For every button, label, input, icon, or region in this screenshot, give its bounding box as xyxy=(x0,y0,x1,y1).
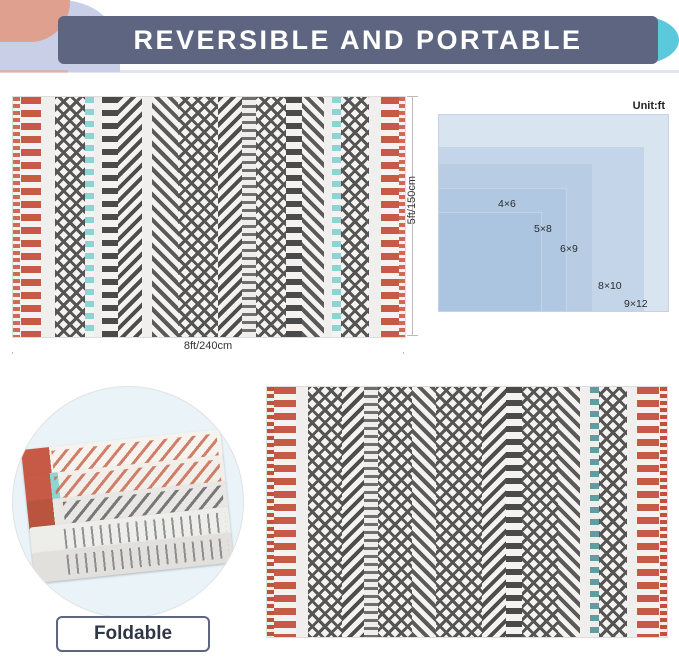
rug-back-band-diamond-3 xyxy=(522,387,558,637)
rug-height-label: 5ft/150cm xyxy=(406,176,424,224)
rug-back-band-diamond-2 xyxy=(378,387,412,637)
rug-band-cream-3 xyxy=(142,97,152,337)
header-underline xyxy=(0,70,679,73)
rug-band-zigzag-1 xyxy=(118,97,142,337)
rug-back-fringe-left xyxy=(267,387,274,637)
rug-band-zigzag-2 xyxy=(152,97,178,337)
rug-width-dimension: 8ft/240cm xyxy=(12,340,404,362)
size-label-4x6: 4×6 xyxy=(498,198,516,210)
rug-back-band-cream-1 xyxy=(296,387,308,637)
rug-front-photo xyxy=(12,96,406,338)
rug-band-coral-left xyxy=(21,97,41,337)
folded-rug-stack xyxy=(21,429,237,574)
rug-band-cream-2 xyxy=(94,97,102,337)
rug-width-label-wrap: 8ft/240cm xyxy=(12,340,404,352)
rug-band-mint-1 xyxy=(85,97,94,337)
rug-back-band-zigzag-3 xyxy=(482,387,506,637)
rug-fringe-left xyxy=(13,97,20,337)
size-label-9x12: 9×12 xyxy=(624,298,648,310)
rug-back-band-cream-2 xyxy=(580,387,590,637)
rug-band-diamond-1 xyxy=(55,97,85,337)
size-comparison-chart: Unit:ft 4×6 5×8 6×9 8×10 9×12 xyxy=(438,116,667,312)
rug-band-dots-2 xyxy=(286,97,302,337)
rug-back-band-diamond-center xyxy=(436,387,482,637)
rug-band-grey-1 xyxy=(242,97,256,337)
rug-back-band-cream-3 xyxy=(627,387,637,637)
rug-back-photo xyxy=(266,386,668,638)
dimension-cap-bottom xyxy=(407,335,418,336)
rug-band-dots-1 xyxy=(102,97,118,337)
rug-back-band-teal xyxy=(590,387,599,637)
dimension-cap-top xyxy=(407,96,418,97)
rug-back-band-zigzag-1 xyxy=(342,387,364,637)
foldable-rug-photo xyxy=(12,386,244,618)
rug-band-mint-2 xyxy=(332,97,341,337)
rug-back-band-zigzag-4 xyxy=(558,387,580,637)
header-banner: REVERSIBLE AND PORTABLE xyxy=(0,0,679,72)
rug-band-coral-right xyxy=(381,97,399,337)
rug-band-cream-4 xyxy=(324,97,332,337)
rug-band-zigzag-3 xyxy=(218,97,242,337)
header-title: REVERSIBLE AND PORTABLE xyxy=(58,16,658,64)
rug-band-cream-1 xyxy=(41,97,55,337)
rug-back-band-coral-right xyxy=(637,387,659,637)
size-chart-unit-label: Unit:ft xyxy=(633,100,665,112)
rug-back-band-zigzag-2 xyxy=(412,387,436,637)
foldable-badge: Foldable xyxy=(56,616,210,652)
rug-band-diamond-4 xyxy=(341,97,369,337)
rug-back-band-dots-1 xyxy=(506,387,522,637)
rug-band-zigzag-4 xyxy=(302,97,324,337)
rug-back-band-grey-1 xyxy=(364,387,378,637)
size-label-6x9: 6×9 xyxy=(560,243,578,255)
rug-back-band-diamond-1 xyxy=(308,387,342,637)
rug-back-band-diamond-4 xyxy=(599,387,627,637)
rug-band-cream-5 xyxy=(369,97,381,337)
rug-back-band-coral-left xyxy=(274,387,296,637)
rug-back-fringe-right xyxy=(660,387,667,637)
size-box-4x6 xyxy=(438,212,542,312)
size-label-8x10: 8×10 xyxy=(598,280,622,292)
size-label-5x8: 5×8 xyxy=(534,223,552,235)
rug-width-label: 8ft/240cm xyxy=(176,340,240,352)
rug-band-diamond-3 xyxy=(256,97,286,337)
rug-band-diamond-2 xyxy=(178,97,218,337)
